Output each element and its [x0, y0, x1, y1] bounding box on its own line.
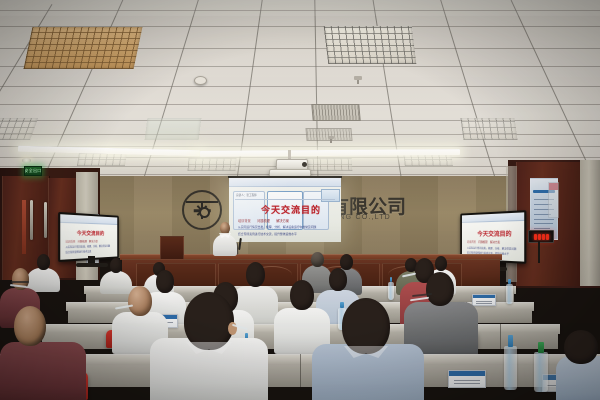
- slide-subtitle: 培训背景 问题梳理 解决方案: [238, 218, 289, 223]
- projector-lens: [302, 162, 307, 167]
- presenter-head: [220, 222, 230, 234]
- conference-room-photo: 有限公司 RING CO.,LTD 公司 安全出口: [0, 0, 600, 400]
- water-bottle: [506, 284, 513, 304]
- attendee-torso: [0, 342, 86, 400]
- presenter-at-front-table: [212, 222, 238, 256]
- attendee-head: [329, 268, 347, 291]
- slide-thumbnail: [321, 189, 340, 202]
- logo-hub: [199, 207, 210, 218]
- exit-sign-text: 安全出口: [24, 169, 41, 173]
- attendee-head: [14, 306, 46, 346]
- ceiling-light-fixture: [324, 26, 417, 64]
- led-segment: [542, 234, 545, 240]
- attendee-front-left: [0, 306, 86, 400]
- door-push-strip: [22, 200, 26, 254]
- recessed-downlight: [22, 158, 31, 163]
- wall-pillar-right: [580, 160, 600, 286]
- name-placard: [448, 370, 486, 388]
- led-segment: [546, 234, 549, 240]
- led-display-post: [538, 241, 540, 263]
- led-segment: [534, 234, 537, 240]
- attendee-front-far-right: [556, 330, 600, 400]
- logo-crossbar: [186, 201, 218, 203]
- ceiling-light-fixture: [460, 118, 517, 140]
- monitor-right-sub: 培训背景 问题梳理 解决方案: [467, 240, 500, 244]
- led-counter-display: [528, 230, 554, 243]
- projection-screen: 演讲人：张工程师 今天交流目的 培训背景 问题梳理 解决方案 从实际运行情况出发…: [229, 178, 341, 242]
- ceiling-light-fixture: [24, 27, 143, 69]
- attendee-head: [311, 252, 324, 267]
- attendee-front-center: [150, 292, 268, 400]
- monitor-left-title: 今天交流目的: [77, 230, 104, 237]
- eyeglasses: [11, 281, 29, 283]
- ceiling: [0, 0, 600, 186]
- ceiling-light-fixture: [145, 118, 202, 140]
- sprinkler-head: [328, 136, 334, 139]
- monitor-left-sub: 培训背景 问题梳理 解决方案: [66, 239, 98, 243]
- side-banner-right: [548, 182, 559, 218]
- attendee-head: [184, 292, 234, 350]
- slide-divider: [235, 199, 335, 200]
- slide-body-line-1: 从实际运行情况出发，梳理、分析、解决设备运行中的常见问题: [238, 225, 316, 229]
- attendee-head: [564, 330, 598, 364]
- monitor-left-screen: 今天交流目的 培训背景 问题梳理 解决方案 从实际运行情况出发，梳理、分析、解决…: [60, 214, 117, 260]
- monitor-left-body2: 结合现场案例进行技术交流: [66, 249, 92, 254]
- air-vent: [311, 104, 360, 121]
- attendee-head: [110, 258, 122, 273]
- slide-kicker: 演讲人：张工程师: [236, 193, 257, 197]
- slide-body-line-2: 结合现场案例进行技术交流，提升整体运维水平: [238, 232, 297, 236]
- lectern: [160, 236, 184, 260]
- presenter-torso: [213, 234, 237, 256]
- air-vent: [305, 128, 352, 141]
- monitor-right-title: 今天交流目的: [477, 229, 511, 238]
- water-bottle: [534, 352, 548, 392]
- slideshow-app-chrome: [229, 178, 341, 187]
- confidence-monitor-left: 今天交流目的 培训背景 问题梳理 解决方案 从实际运行情况出发，梳理、分析、解决…: [58, 212, 119, 262]
- attendee-head: [342, 298, 390, 354]
- attendee-head: [426, 272, 454, 306]
- smoke-detector: [194, 76, 207, 85]
- attendee-head: [128, 286, 152, 316]
- door-handle[interactable]: [44, 202, 47, 238]
- slide-title: 今天交流目的: [261, 203, 321, 216]
- ceiling-light-fixture: [188, 158, 237, 171]
- water-bottle: [504, 346, 517, 390]
- ceiling-light-fixture: [306, 158, 353, 171]
- attendee-front-right: [312, 298, 424, 400]
- monitor-left-body: 从实际运行情况出发，梳理、分析、解决常见问题: [66, 244, 111, 249]
- attendee-head: [290, 280, 314, 310]
- ceiling-light-fixture: [0, 118, 38, 140]
- exit-sign: 安全出口: [24, 166, 42, 176]
- desk-seam: [300, 354, 301, 387]
- desk-seam: [500, 324, 501, 349]
- sprinkler-head: [354, 76, 362, 80]
- led-segment: [538, 234, 541, 240]
- door-handle[interactable]: [30, 200, 33, 240]
